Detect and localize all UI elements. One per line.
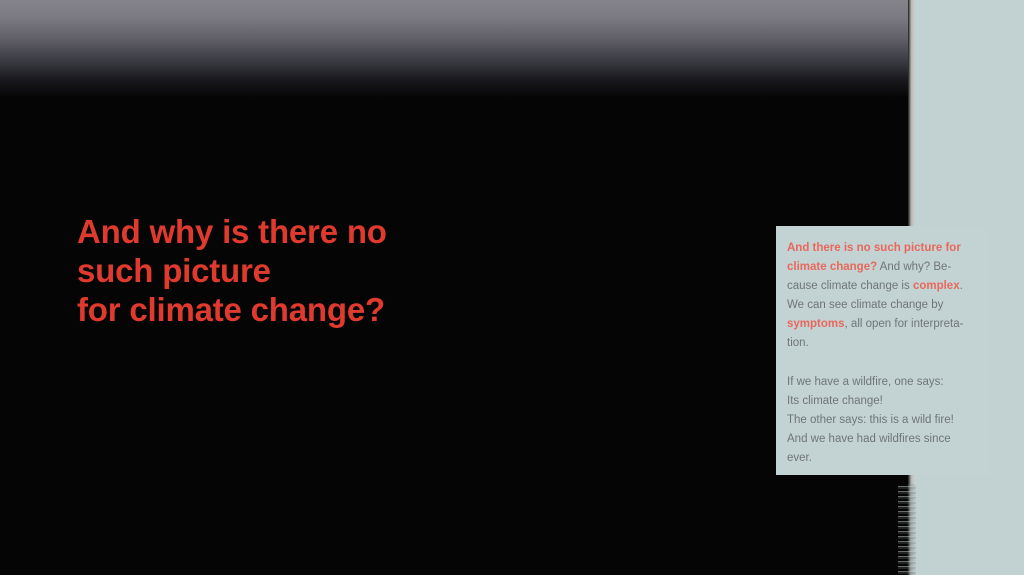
notes-line4-post: , all open for interpreta- bbox=[845, 318, 964, 330]
notes-line-4: symptoms, all open for interpreta- bbox=[787, 315, 979, 334]
notes-paragraph-2: If we have a wildfire, one says: Its cli… bbox=[787, 373, 979, 468]
notes-symptoms-highlight: symptoms bbox=[787, 318, 845, 330]
notes-p2-line-4: And we have had wildfires since bbox=[787, 430, 979, 449]
page-title: And why is there no such picture for cli… bbox=[77, 212, 697, 329]
notes-paragraph-1: And there is no such picture for climate… bbox=[787, 239, 979, 354]
notes-line2-post: . bbox=[960, 280, 963, 292]
notes-complex-highlight: complex bbox=[913, 280, 960, 292]
notes-line2-pre: cause climate change is bbox=[787, 280, 913, 292]
notes-after-lead: And why? Be- bbox=[877, 261, 951, 273]
notes-p2-line-1: If we have a wildfire, one says: bbox=[787, 373, 979, 392]
torn-edge-texture bbox=[898, 484, 916, 575]
notes-line-5: tion. bbox=[787, 334, 979, 353]
notes-p2-line-2: Its climate change! bbox=[787, 392, 979, 411]
notes-textbox: And there is no such picture for climate… bbox=[776, 226, 990, 475]
notes-line-3: We can see climate change by bbox=[787, 296, 979, 315]
slide-canvas: And why is there no such picture for cli… bbox=[0, 0, 1024, 575]
top-gradient-band bbox=[0, 0, 910, 98]
notes-p2-line-5: ever. bbox=[787, 449, 979, 468]
notes-p2-line-3: The other says: this is a wild fire! bbox=[787, 411, 979, 430]
notes-paragraph-spacer bbox=[787, 354, 979, 373]
notes-line-2: cause climate change is complex. bbox=[787, 277, 979, 296]
